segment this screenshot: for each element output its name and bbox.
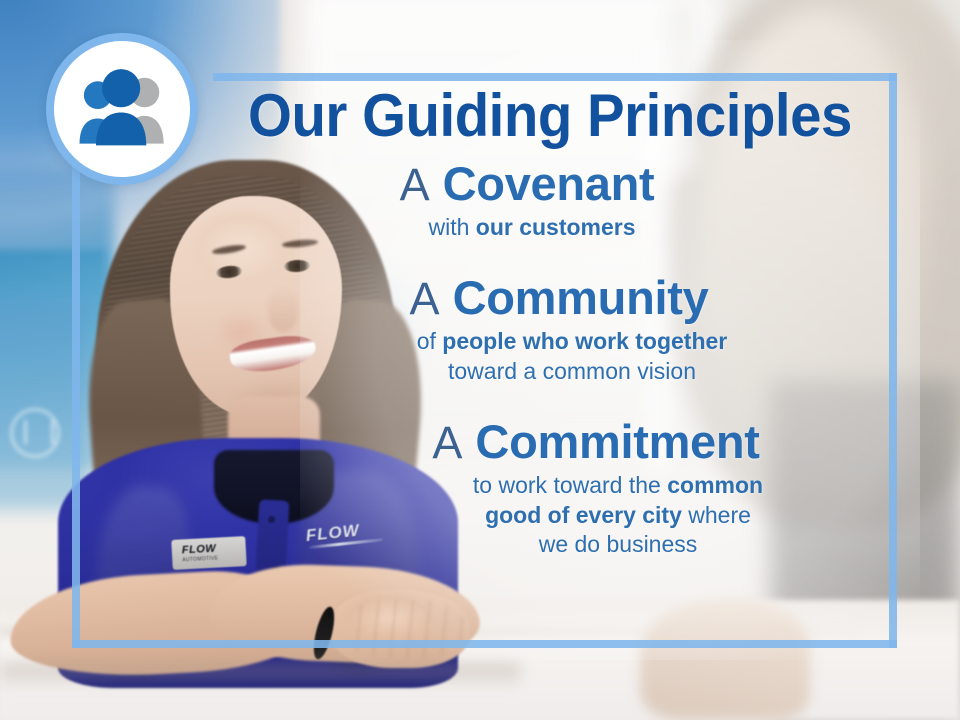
principle-heading: A Commitment (292, 418, 900, 466)
principle-heading: A Covenant (154, 160, 900, 208)
text-content-block: Our Guiding Principles A Covenant with o… (200, 86, 900, 559)
subtext-line: of people who work together (244, 327, 900, 356)
guiding-principles-graphic: FLOW AUTOMOTIVE FLOW (0, 0, 960, 720)
principle-article: A (410, 273, 440, 324)
arm-desk-shadow (0, 664, 520, 688)
subtext-lead: with (428, 214, 475, 240)
principle-commitment: A Commitment to work toward the common g… (292, 418, 900, 559)
page-title: Our Guiding Principles (221, 86, 879, 146)
principle-covenant: A Covenant with our customers (154, 160, 900, 242)
principle-subtext: to work toward the common good of every … (336, 471, 900, 559)
principle-article: A (400, 159, 430, 210)
principle-heading: A Community (218, 274, 900, 322)
foreground-other-person-hand (640, 600, 810, 720)
principle-article: A (432, 417, 462, 468)
principle-keyword: Covenant (443, 157, 655, 210)
principle-subtext: of people who work together toward a com… (244, 327, 900, 386)
principle-keyword: Commitment (475, 415, 759, 468)
subtext-emphasis: our customers (476, 214, 636, 240)
subtext-emphasis: people who work together (442, 328, 727, 354)
subject-fingers (344, 600, 464, 658)
people-group-icon (70, 69, 174, 149)
principle-subtext: with our customers (164, 213, 900, 242)
principle-keyword: Community (453, 271, 709, 324)
subtext-line: good of every city where (336, 501, 900, 530)
subtext-emphasis: common (667, 472, 763, 498)
subtext-line: to work toward the common (336, 471, 900, 500)
subtext-line: toward a common vision (244, 357, 900, 386)
subtext-lead: of (417, 328, 443, 354)
subtext-tail: where (682, 502, 751, 528)
subtext-lead: to work toward the (473, 472, 667, 498)
subtext-line: we do business (336, 530, 900, 559)
principle-community: A Community of people who work together … (218, 274, 900, 386)
subtext-emphasis: good of every city (485, 502, 682, 528)
